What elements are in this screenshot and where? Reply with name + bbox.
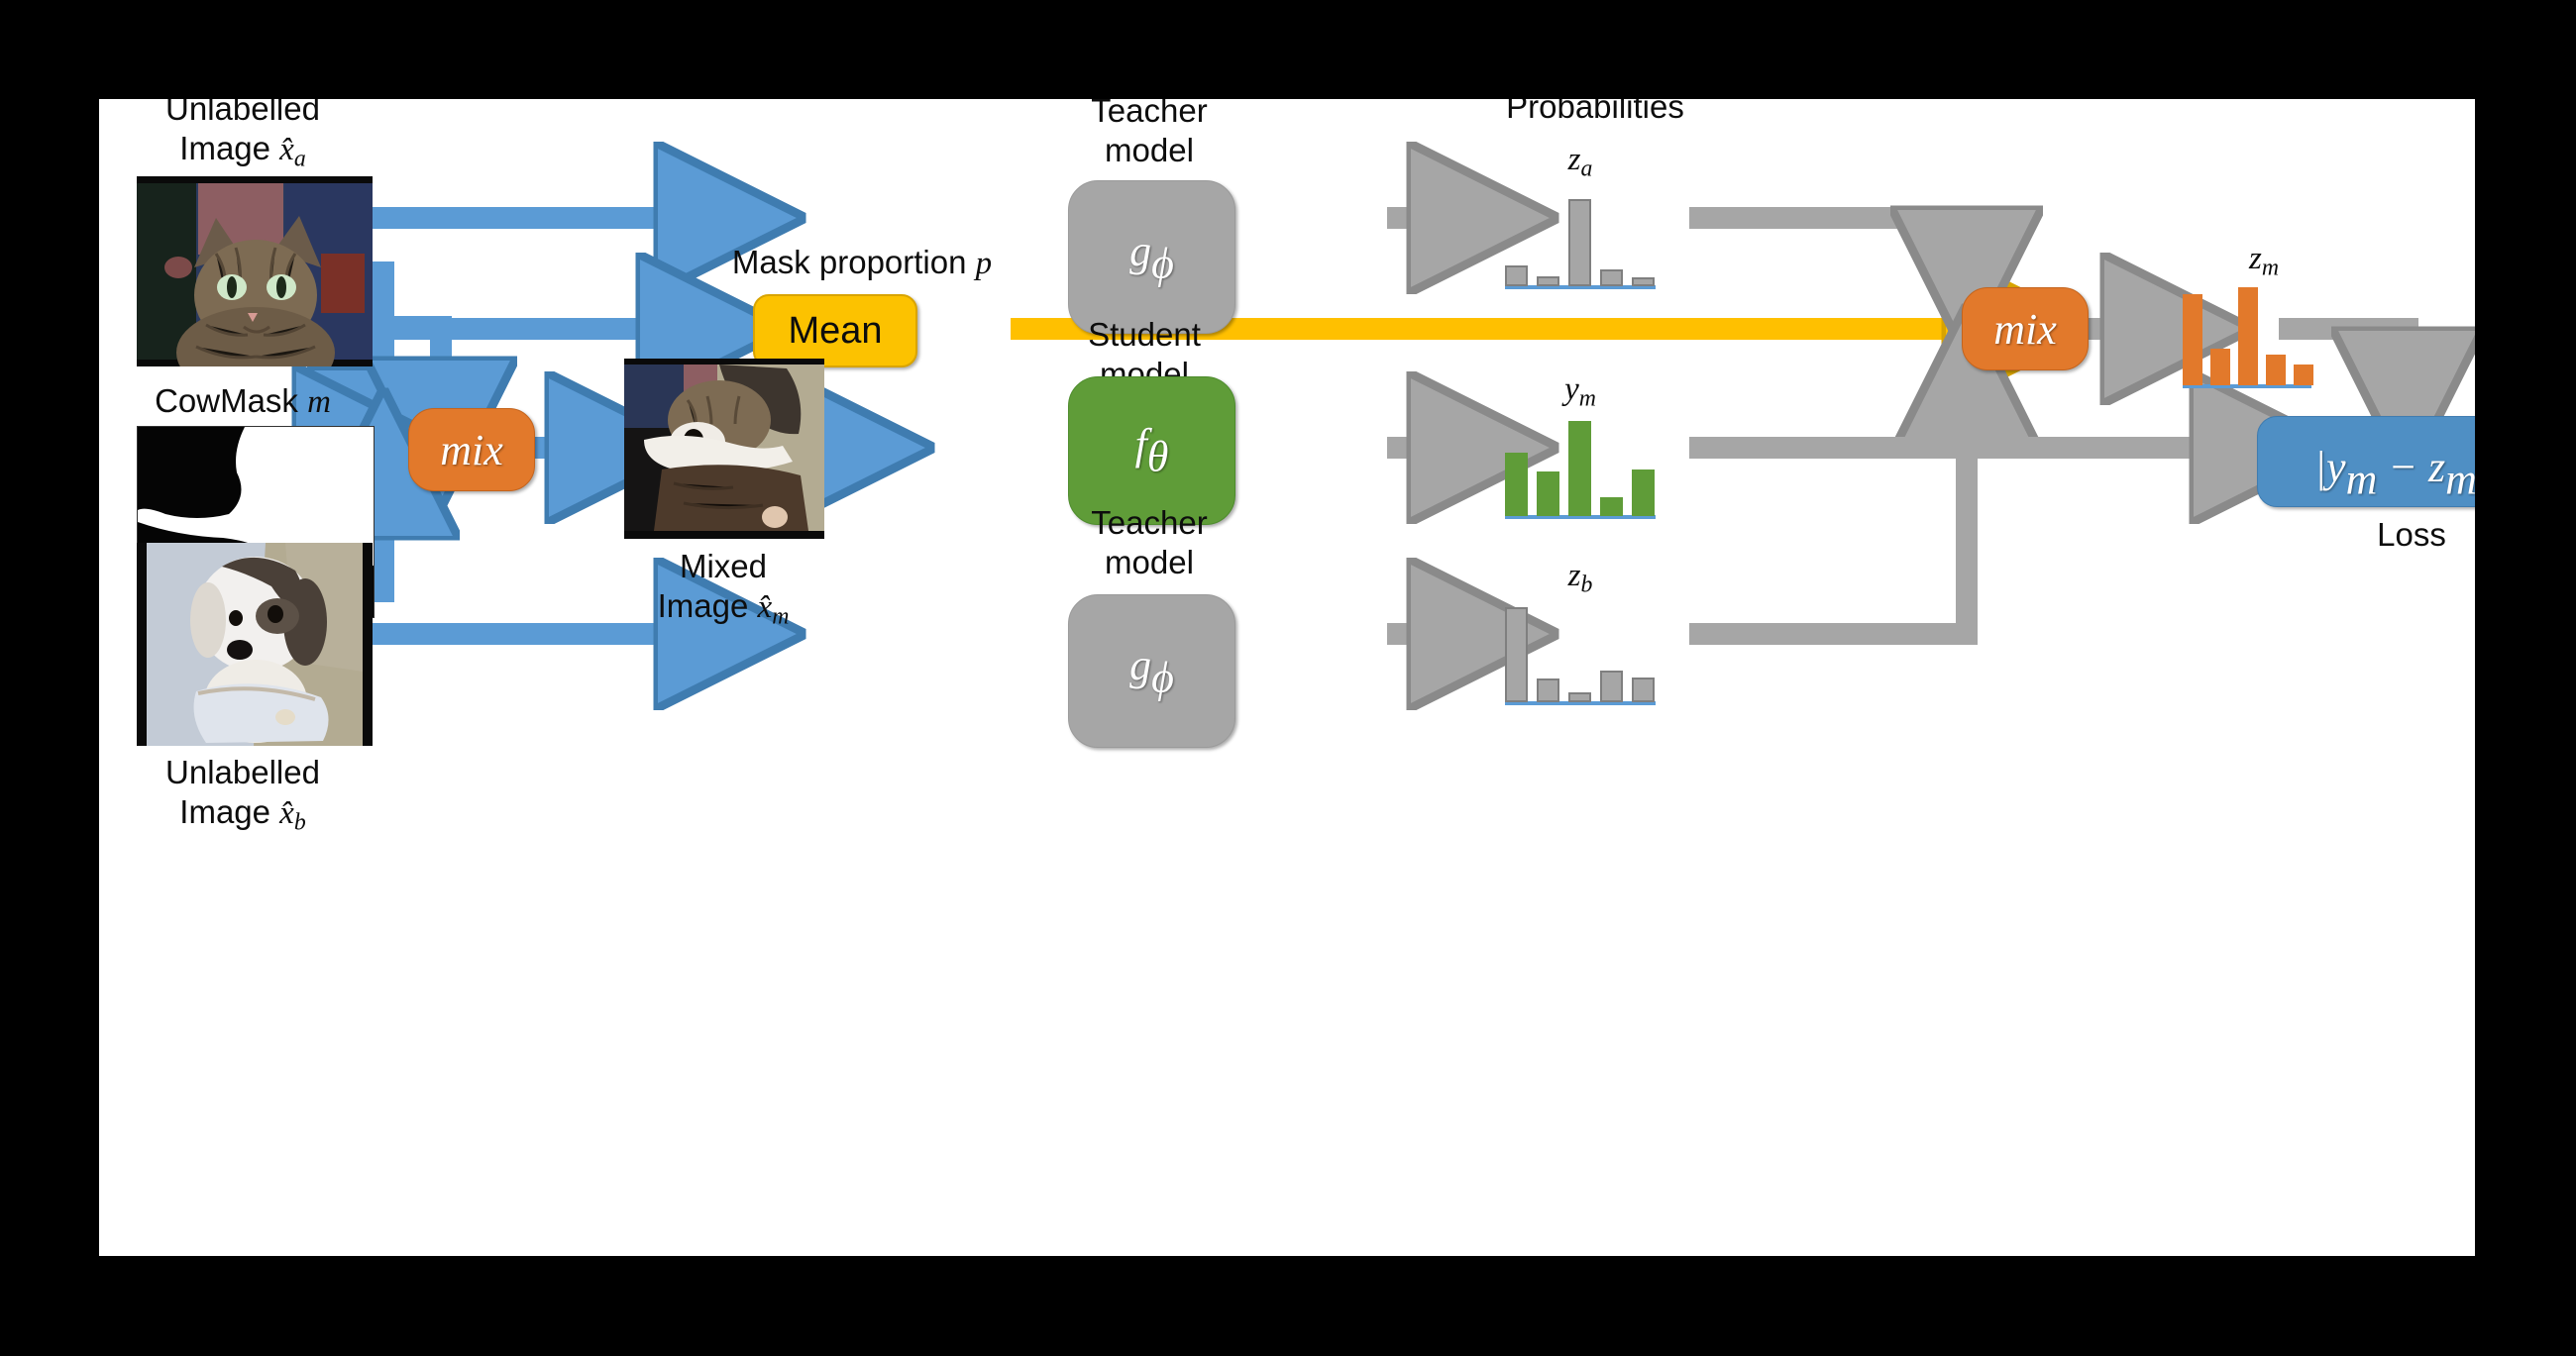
chart-bar (1505, 607, 1528, 702)
chart-bar (1600, 497, 1623, 516)
teacher-bottom-line2: model (1001, 543, 1298, 582)
chart-bar (2210, 349, 2230, 385)
m-symbol: m (307, 384, 331, 420)
mix-right-node[interactable]: mix (1962, 287, 2089, 370)
teacher-top-symbol: g (1129, 227, 1151, 275)
loss-node[interactable]: |ym − zm|2 (2257, 416, 2475, 507)
chart-bar (1568, 421, 1591, 516)
mask-proportion-caption: Mask proportion p (654, 243, 1070, 283)
mean-label: Mean (788, 310, 882, 353)
chart-zb-title: zb (1481, 555, 1679, 605)
teacher-top-line1: Teacher (1001, 99, 1298, 131)
chart-bar (1505, 265, 1528, 286)
loss-caption: Loss (2257, 515, 2475, 555)
teacher-model-bottom-node[interactable]: gϕ (1068, 594, 1235, 748)
chart-bar (1632, 277, 1655, 286)
chart-bar (1537, 276, 1559, 286)
teacher-bottom-line1: Teacher (1001, 503, 1298, 543)
chart-bar (1537, 471, 1559, 516)
chart-zb-bars (1505, 602, 1656, 705)
loss-z: z (2428, 443, 2445, 491)
chart-ym: ym (1481, 368, 1679, 527)
unlabelled-image-a-photo (137, 176, 373, 366)
unlabelled-image-b-caption: Unlabelled Image x̂b (109, 753, 376, 843)
cowmask-caption: CowMask m (109, 381, 376, 422)
chart-bar (2183, 294, 2202, 385)
unlabelled-b-line1: Unlabelled (109, 753, 376, 792)
teacher-bottom-symbol: g (1129, 641, 1151, 689)
loss-open-bar: | (2314, 443, 2326, 491)
mix-left-node[interactable]: mix (408, 408, 535, 491)
cowmask-text: CowMask (155, 382, 307, 419)
mix-right-label: mix (1993, 304, 2057, 355)
mask-proportion-text: Mask proportion (732, 244, 976, 280)
diagram-canvas: Unlabelled Image x̂a (99, 99, 2475, 1256)
unlabelled-a-line2: Image x̂a (109, 129, 376, 179)
p-symbol: p (976, 246, 993, 281)
loss-y: y (2326, 443, 2346, 491)
mixed-line2: Image x̂m (594, 586, 852, 637)
chart-za-title: za (1481, 139, 1679, 189)
chart-bar (1568, 692, 1591, 702)
probabilities-header: Probabilities (1456, 99, 1734, 127)
chart-bar (1632, 469, 1655, 516)
arrow-zb-to-mix-right (1689, 386, 1967, 634)
loss-y-subscript: m (2346, 456, 2378, 504)
chart-zm: zm (2165, 238, 2363, 396)
teacher-bottom-subscript: ϕ (1151, 653, 1174, 701)
student-line1: Student (996, 315, 1293, 355)
chart-zm-title: zm (2165, 238, 2363, 288)
student-symbol: f (1135, 420, 1147, 469)
chart-bar (2294, 365, 2313, 385)
loss-z-subscript: m (2445, 456, 2475, 504)
chart-zb: zb (1481, 555, 1679, 713)
chart-zm-bars (2183, 285, 2311, 388)
mix-left-label: mix (440, 425, 503, 475)
screenshot-root: Unlabelled Image x̂a (0, 0, 2576, 1356)
student-subscript: θ (1147, 433, 1169, 481)
unlabelled-b-line2: Image x̂b (109, 792, 376, 843)
mixed-line1: Mixed (594, 547, 852, 586)
chart-bar (1568, 199, 1591, 286)
chart-bar (2238, 287, 2258, 385)
teacher-top-caption: Teacher model (1001, 99, 1298, 170)
x-hat-a-symbol: x̂ (279, 132, 294, 167)
chart-ym-bars (1505, 416, 1656, 519)
chart-bar (1600, 269, 1623, 286)
unlabelled-image-a-caption: Unlabelled Image x̂a (109, 99, 376, 179)
mean-node[interactable]: Mean (753, 294, 917, 367)
mixed-image-photo (624, 359, 824, 539)
chart-bar (1632, 678, 1655, 702)
arrow-za-to-mix-right (1689, 218, 1967, 275)
loss-minus: − (2377, 443, 2428, 491)
teacher-bottom-caption: Teacher model (1001, 503, 1298, 582)
chart-za: za (1481, 139, 1679, 297)
x-hat-m-subscript: m (772, 604, 789, 630)
mixed-image-caption: Mixed Image x̂m (594, 547, 852, 637)
teacher-model-top-node[interactable]: gϕ (1068, 180, 1235, 334)
x-hat-b-symbol: x̂ (279, 795, 294, 831)
teacher-top-line2: model (1001, 131, 1298, 170)
chart-bar (1600, 671, 1623, 702)
x-hat-a-subscript: a (294, 147, 306, 172)
flow-arrows (99, 99, 2475, 1256)
x-hat-m-symbol: x̂ (758, 589, 773, 625)
unlabelled-a-line1: Unlabelled (109, 99, 376, 129)
chart-bar (1505, 453, 1528, 516)
chart-bar (1537, 678, 1559, 702)
unlabelled-image-b-photo (137, 543, 373, 746)
x-hat-b-subscript: b (294, 810, 306, 836)
teacher-top-subscript: ϕ (1151, 239, 1174, 287)
chart-bar (2266, 355, 2286, 385)
chart-za-bars (1505, 186, 1656, 289)
chart-ym-title: ym (1481, 368, 1679, 419)
